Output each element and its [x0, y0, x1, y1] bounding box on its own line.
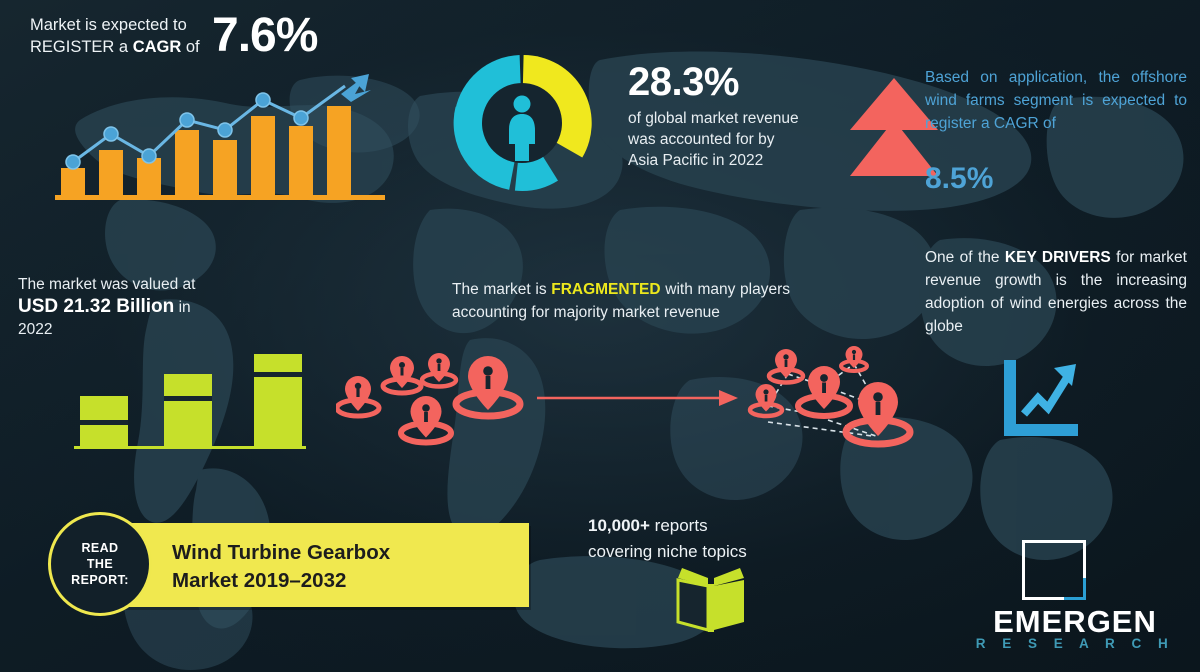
badge-line3: REPORT: — [71, 572, 129, 588]
location-pin — [841, 346, 867, 371]
connected-location-pins — [742, 344, 920, 466]
location-pin — [401, 396, 451, 443]
cagr-line2-bold: CAGR — [133, 38, 182, 56]
read-report-banner[interactable]: Wind Turbine Gearbox Market 2019–2032 — [92, 523, 529, 607]
reports-line1-rest: reports — [650, 516, 708, 535]
logo-corner-accent — [1064, 578, 1086, 600]
apac-description: of global market revenue was accounted f… — [628, 108, 808, 171]
growth-chart-icon — [998, 358, 1082, 440]
emergen-research-logo: EMERGEN R E S E A R C H — [960, 538, 1190, 654]
chart-baseline — [55, 195, 385, 200]
logo-subtitle: R E S E A R C H — [960, 636, 1190, 651]
report-title: Wind Turbine Gearbox Market 2019–2032 — [172, 539, 512, 595]
growth-line — [1024, 376, 1068, 414]
read-report-badge[interactable]: READ THE REPORT: — [48, 512, 152, 616]
offshore-description: Based on application, the offshore wind … — [925, 66, 1187, 135]
value-axis-line — [74, 446, 306, 449]
badge-line1: READ — [71, 540, 129, 556]
valuation-in: in — [174, 299, 190, 316]
location-pin — [750, 384, 782, 416]
location-pin — [456, 356, 520, 416]
logo-name: EMERGEN — [960, 604, 1190, 640]
drivers-pre: One of the — [925, 249, 1005, 266]
key-drivers-description: One of the KEY DRIVERS for market revenu… — [925, 246, 1187, 338]
flow-arrow-icon — [535, 386, 740, 410]
reports-count: 10,000+ — [588, 516, 650, 535]
valuation-line2: USD 21.32 Billion in — [18, 296, 298, 319]
report-title-line2: Market 2019–2032 — [172, 567, 512, 595]
report-title-line1: Wind Turbine Gearbox — [172, 539, 512, 567]
read-report-badge-label: READ THE REPORT: — [71, 540, 129, 588]
market-growth-chart — [55, 72, 385, 200]
valuation-value: USD 21.32 Billion — [18, 296, 174, 317]
reports-line2: covering niche topics — [588, 539, 818, 565]
location-pin — [337, 376, 379, 416]
cagr-line2-pre: REGISTER a — [30, 38, 133, 56]
asia-pacific-donut-chart — [447, 48, 597, 198]
drivers-bold: KEY DRIVERS — [1005, 249, 1111, 266]
logo-square-icon — [1022, 540, 1086, 600]
market-valuation-text: The market was valued at USD 21.32 Billi… — [18, 274, 298, 341]
scattered-location-pins — [336, 348, 536, 458]
valuation-line1: The market was valued at — [18, 274, 298, 296]
infographic-canvas: Market is expected to REGISTER a CAGR of… — [0, 0, 1200, 672]
fragmented-pre: The market is — [452, 281, 551, 298]
location-pin — [422, 353, 456, 387]
apac-percent: 28.3% — [628, 60, 739, 105]
reports-line1: 10,000+ reports — [588, 513, 818, 539]
valuation-year: 2022 — [18, 319, 298, 341]
offshore-percent: 8.5% — [925, 162, 993, 196]
badge-line2: THE — [71, 556, 129, 572]
fragmented-description: The market is FRAGMENTED with many playe… — [452, 278, 790, 324]
fragmented-highlight: FRAGMENTED — [551, 281, 660, 298]
cagr-value: 7.6% — [212, 8, 317, 63]
reports-count-text: 10,000+ reports covering niche topics — [588, 513, 818, 565]
open-book-icon — [672, 564, 750, 636]
location-pin — [383, 356, 421, 393]
location-pin — [846, 382, 910, 444]
market-value-bar-chart: 2020 2021 2022 — [60, 352, 320, 452]
cagr-line2-post: of — [181, 38, 199, 56]
